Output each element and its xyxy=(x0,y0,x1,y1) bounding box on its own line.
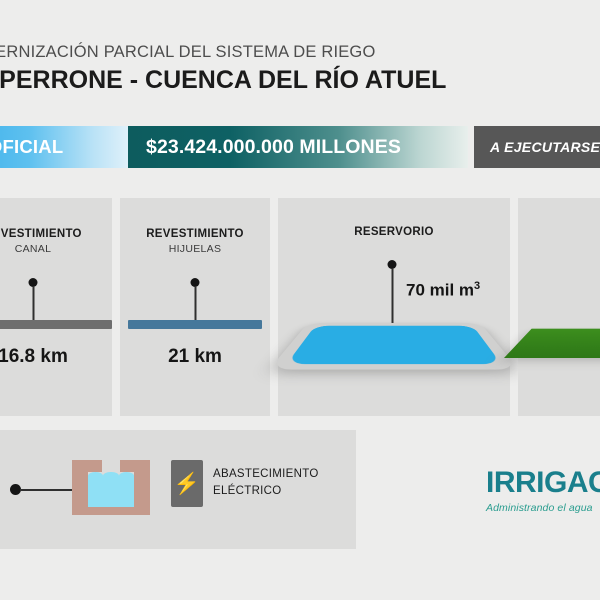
field-shape xyxy=(504,329,600,358)
card-title: REVESTIMIENTO xyxy=(0,228,112,242)
card-value-exponent: 3 xyxy=(474,280,480,292)
bolt-glyph: ⚡ xyxy=(174,473,200,494)
card-value: 21 km xyxy=(120,346,270,368)
linear-bar-icon xyxy=(0,320,112,329)
card-reservorio[interactable]: RESERVORIO 70 mil m3 xyxy=(278,198,510,416)
status-badge: A EJECUTARSE xyxy=(474,126,600,168)
tank-lip-right xyxy=(120,460,134,472)
pin-marker xyxy=(191,278,200,323)
page-title: IZ PERRONE - CUENCA DEL RÍO ATUEL xyxy=(0,65,600,96)
pin-dot-icon xyxy=(388,260,397,269)
tank-water xyxy=(88,477,134,507)
card-superficie-partial[interactable] xyxy=(518,198,600,416)
tank-lip-left xyxy=(88,460,102,472)
card-revestimiento-hijuelas[interactable]: REVESTIMIENTO HIJUELAS 21 km xyxy=(120,198,270,416)
page-title-block: ODERNIZACIÓN PARCIAL DEL SISTEMA DE RIEG… xyxy=(0,42,600,95)
reservoir-pool-icon xyxy=(292,294,496,390)
tank-water-wave xyxy=(88,472,134,480)
card-value: 16.8 km xyxy=(0,346,112,368)
budget-amount-badge: $23.424.000.000 MILLONES xyxy=(128,126,468,168)
tank-floor xyxy=(72,507,150,515)
metric-card-row: REVESTIMIENTO CANAL 16.8 km REVESTIMIENT… xyxy=(0,198,600,416)
summary-banner: O OFICIAL $23.424.000.000 MILLONES A EJE… xyxy=(0,126,600,168)
pin-dot-icon xyxy=(191,278,200,287)
status-badge-text: A EJECUTARSE xyxy=(490,139,600,155)
card-abastecimiento-electrico[interactable]: ⚡ ABASTECIMIENTO ELÉCTRICO xyxy=(0,430,356,549)
linear-bar-icon xyxy=(128,320,262,329)
pin-dot-icon xyxy=(29,278,38,287)
budget-label-badge: O OFICIAL xyxy=(0,126,132,168)
lightning-bolt-icon: ⚡ xyxy=(171,460,203,507)
budget-amount-text: $23.424.000.000 MILLONES xyxy=(146,136,401,159)
pin-marker xyxy=(29,278,38,323)
card-subtitle: HIJUELAS xyxy=(120,243,270,256)
budget-label-text: O OFICIAL xyxy=(0,136,63,158)
green-field-icon xyxy=(520,306,600,376)
electric-supply-line1: ABASTECIMIENTO xyxy=(213,466,319,483)
water-tank-icon xyxy=(72,460,150,515)
connector-line xyxy=(20,489,80,491)
card-title: REVESTIMIENTO xyxy=(120,228,270,242)
pin-stem-icon xyxy=(194,287,196,323)
logo-name: IRRIGACIÓN xyxy=(486,468,600,498)
irrigacion-logo: IRRIGACIÓN Administrando el agua xyxy=(486,468,600,514)
electric-supply-line2: ELÉCTRICO xyxy=(213,483,319,500)
logo-tagline: Administrando el agua xyxy=(486,502,600,514)
card-title: RESERVORIO xyxy=(278,226,510,240)
pin-stem-icon xyxy=(32,287,34,323)
page-subtitle: ODERNIZACIÓN PARCIAL DEL SISTEMA DE RIEG… xyxy=(0,42,600,63)
electric-supply-label: ABASTECIMIENTO ELÉCTRICO xyxy=(213,466,319,499)
pool-water xyxy=(286,326,501,364)
card-revestimiento-canal[interactable]: REVESTIMIENTO CANAL 16.8 km xyxy=(0,198,112,416)
card-subtitle: CANAL xyxy=(0,243,112,256)
